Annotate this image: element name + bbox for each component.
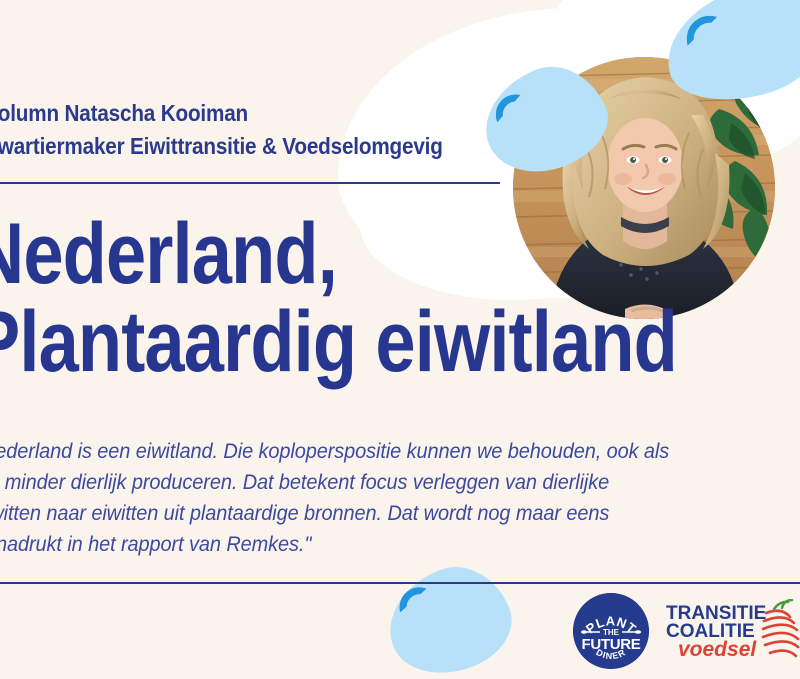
- blob-accent-crescent: [397, 585, 442, 630]
- blue-bean-blob-bottom: [374, 552, 524, 679]
- headline-line-2: Plantaardig eiwitland: [0, 298, 728, 386]
- quote-line-4: benadrukt in het rapport van Remkes.": [0, 529, 791, 560]
- headline-line-1: Nederland,: [0, 210, 728, 298]
- logo-line-voedsel: voedsel: [678, 638, 757, 661]
- divider-top: [0, 182, 500, 184]
- byline-role-line: Kwartiermaker Eiwittransitie & Voedselom…: [0, 130, 451, 163]
- plant-the-future-diner-logo: PLANT THE FUTURE DINER: [573, 593, 649, 669]
- promo-card: Column Natascha Kooiman Kwartiermaker Ei…: [0, 0, 800, 679]
- logo-strip: PLANT THE FUTURE DINER: [573, 591, 800, 673]
- column-byline: Column Natascha Kooiman Kwartiermaker Ei…: [0, 97, 451, 163]
- quote-line-1: "Nederland is een eiwitland. Die koplope…: [0, 436, 791, 467]
- quote-line-3: eiwitten naar eiwitten uit plantaardige …: [0, 498, 791, 529]
- byline-column-line: Column Natascha Kooiman: [0, 97, 451, 130]
- page-title: Nederland, Plantaardig eiwitland: [0, 210, 728, 386]
- logo-word-future: FUTURE: [581, 636, 640, 653]
- pull-quote: "Nederland is een eiwitland. Die koplope…: [0, 436, 791, 560]
- divider-bottom: [0, 582, 800, 584]
- blob-accent-crescent: [684, 13, 735, 64]
- quote-line-2: we minder dierlijk produceren. Dat betek…: [0, 467, 791, 498]
- transitie-coalitie-voedsel-logo: TRANSITIE COALITIE voedsel: [666, 599, 800, 665]
